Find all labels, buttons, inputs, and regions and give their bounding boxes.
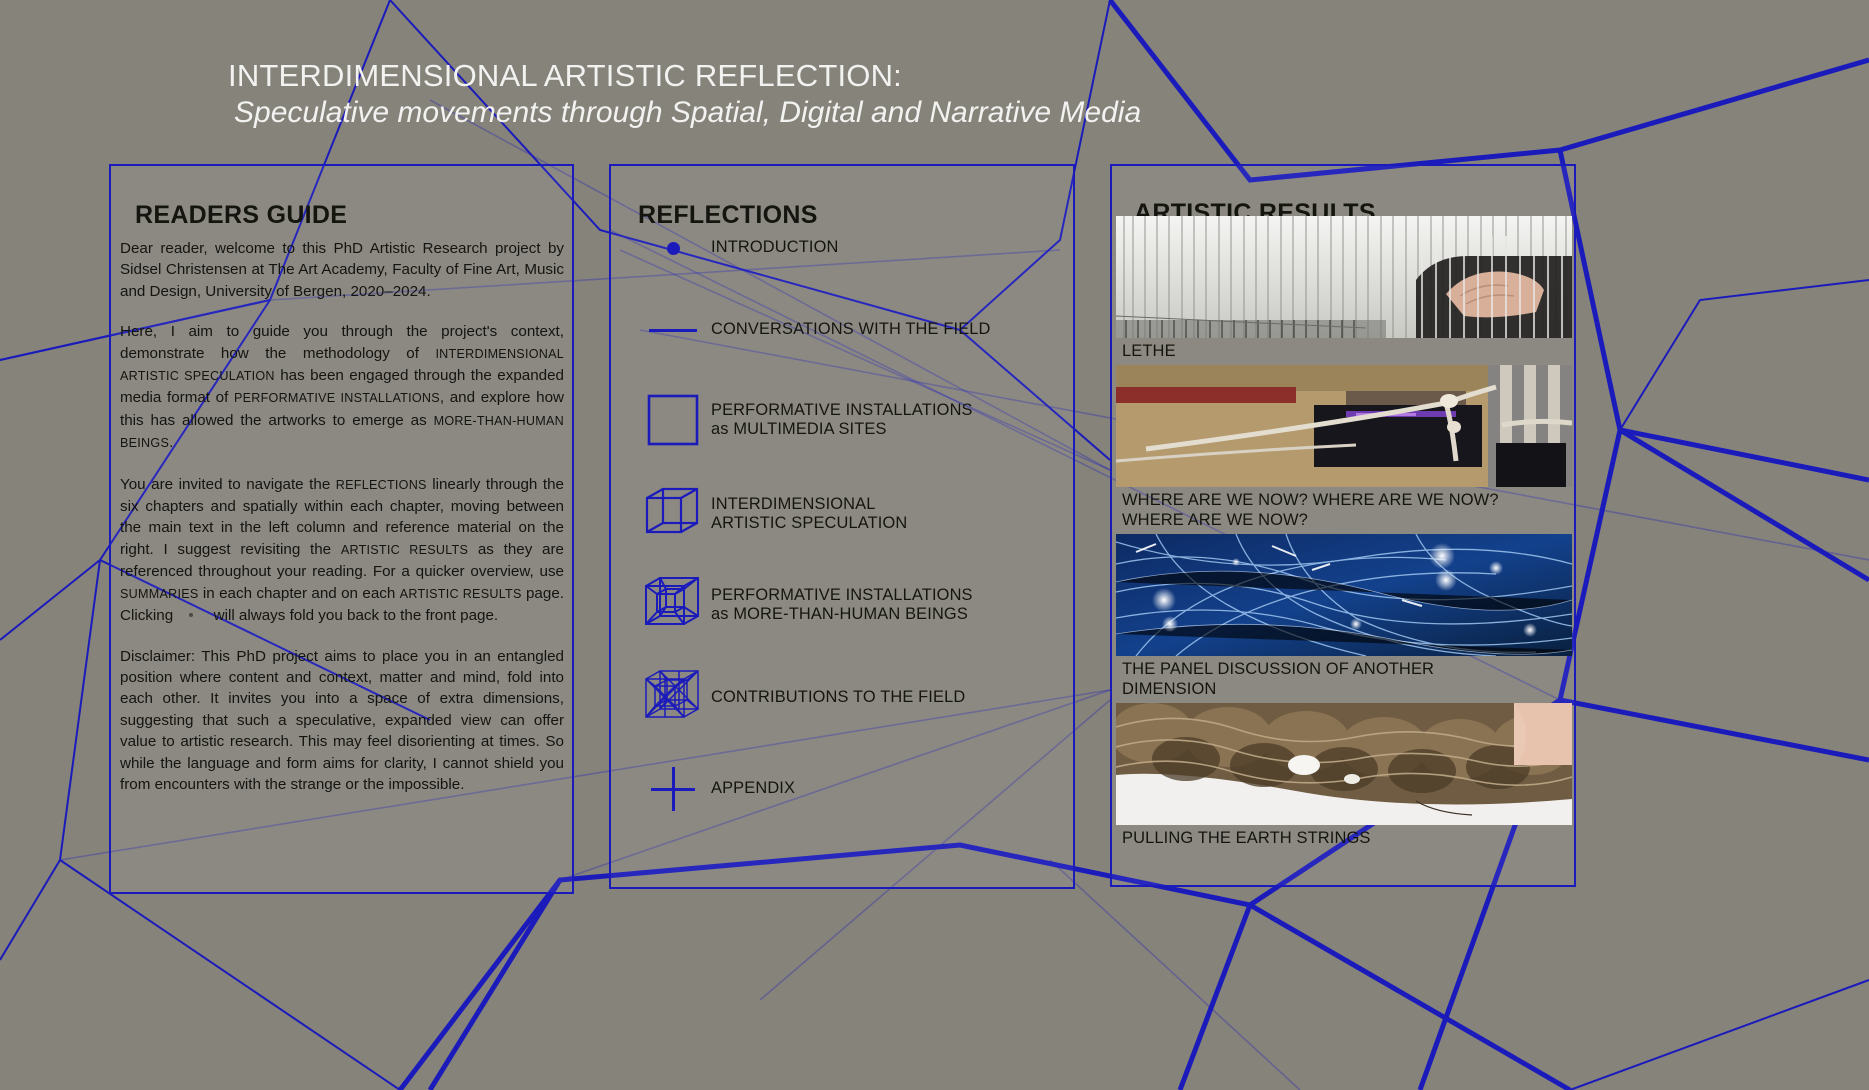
reflections-item-label: CONTRIBUTIONS TO THE FIELD	[711, 688, 965, 708]
paragraph-methodology: Here, I aim to guide you through the pro…	[120, 321, 564, 454]
plus-icon	[635, 767, 711, 811]
smallcaps-performative-installations: PERFORMATIVE INSTALLATIONS	[234, 391, 440, 405]
penteract-icon	[635, 669, 711, 727]
fold-dot-icon[interactable]	[189, 613, 193, 617]
page-title: INTERDIMENSIONAL ARTISTIC REFLECTION: Sp…	[228, 58, 1141, 130]
smallcaps-artistic-results: ARTISTIC RESULTS	[341, 543, 468, 557]
artistic-result-card[interactable]: WHERE ARE WE NOW? WHERE ARE WE NOW? WHER…	[1116, 365, 1572, 534]
readers-guide-heading: READERS GUIDE	[135, 201, 347, 230]
thumbnail-braided-hair-rope	[1116, 703, 1572, 825]
reflections-item-label: PERFORMATIVE INSTALLATIONS as MULTIMEDIA…	[711, 401, 973, 440]
reflections-item-introduction[interactable]: INTRODUCTION	[635, 218, 1055, 278]
readers-guide-body: Dear reader, welcome to this PhD Artisti…	[120, 238, 564, 795]
text-run: .	[169, 434, 173, 451]
artistic-result-card[interactable]: LETHE	[1116, 216, 1572, 365]
artistic-result-caption: WHERE ARE WE NOW? WHERE ARE WE NOW? WHER…	[1116, 487, 1572, 534]
reflections-item-interdimensional-artistic-speculation[interactable]: INTERDIMENSIONAL ARTISTIC SPECULATION	[635, 484, 1055, 544]
smallcaps-artistic-results-2: ARTISTIC RESULTS	[400, 587, 522, 601]
reflections-item-contributions-to-the-field[interactable]: CONTRIBUTIONS TO THE FIELD	[635, 668, 1055, 728]
title-line-1: INTERDIMENSIONAL ARTISTIC REFLECTION:	[228, 58, 1141, 95]
smallcaps-reflections: REFLECTIONS	[336, 478, 427, 492]
cube-icon	[635, 486, 711, 542]
text-run: You are invited to navigate the	[120, 476, 336, 493]
paragraph-navigation: You are invited to navigate the REFLECTI…	[120, 474, 564, 627]
artistic-result-caption: LETHE	[1116, 338, 1572, 365]
thumbnail-white-strings-hands	[1116, 216, 1572, 338]
artistic-result-card[interactable]: PULLING THE EARTH STRINGS	[1116, 703, 1572, 852]
artistic-results-list: LETHE	[1116, 216, 1572, 852]
smallcaps-summaries: SUMMARIES	[120, 587, 199, 601]
dot-icon	[635, 242, 711, 255]
artistic-result-caption: THE PANEL DISCUSSION OF ANOTHER DIMENSIO…	[1116, 656, 1572, 703]
text-run: will always fold you back to the front p…	[209, 607, 498, 624]
tesseract-icon	[635, 576, 711, 634]
text-run: in each chapter and on each	[199, 585, 400, 602]
reflections-item-performative-installations-multimedia-sites[interactable]: PERFORMATIVE INSTALLATIONS as MULTIMEDIA…	[635, 390, 1055, 450]
artistic-result-caption: PULLING THE EARTH STRINGS	[1116, 825, 1572, 852]
reflections-panel: REFLECTIONS INTRODUCTION CONVERSATIONS W…	[609, 164, 1075, 889]
paragraph-disclaimer: Disclaimer: This PhD project aims to pla…	[120, 646, 564, 796]
line-icon	[635, 329, 711, 332]
thumbnail-rope-performance-room	[1116, 365, 1572, 487]
reflections-item-label: INTRODUCTION	[711, 238, 838, 258]
square-icon	[635, 394, 711, 446]
reflections-item-label: INTERDIMENSIONAL ARTISTIC SPECULATION	[711, 495, 907, 534]
artistic-result-card[interactable]: THE PANEL DISCUSSION OF ANOTHER DIMENSIO…	[1116, 534, 1572, 703]
paragraph-welcome: Dear reader, welcome to this PhD Artisti…	[120, 238, 564, 302]
artistic-results-panel: ARTISTIC RESULTS	[1110, 164, 1576, 887]
readers-guide-panel: READERS GUIDE Dear reader, welcome to th…	[109, 164, 574, 894]
reflections-item-label: PERFORMATIVE INSTALLATIONS as MORE-THAN-…	[711, 586, 973, 625]
thumbnail-blue-light-strands	[1116, 534, 1572, 656]
reflections-item-label: CONVERSATIONS WITH THE FIELD	[711, 320, 991, 340]
reflections-item-appendix[interactable]: APPENDIX	[635, 759, 1055, 819]
title-line-2: Speculative movements through Spatial, D…	[228, 95, 1141, 130]
reflections-item-performative-installations-more-than-human-beings[interactable]: PERFORMATIVE INSTALLATIONS as MORE-THAN-…	[635, 575, 1055, 635]
reflections-item-label: APPENDIX	[711, 779, 795, 799]
reflections-item-conversations-with-the-field[interactable]: CONVERSATIONS WITH THE FIELD	[635, 300, 1055, 360]
